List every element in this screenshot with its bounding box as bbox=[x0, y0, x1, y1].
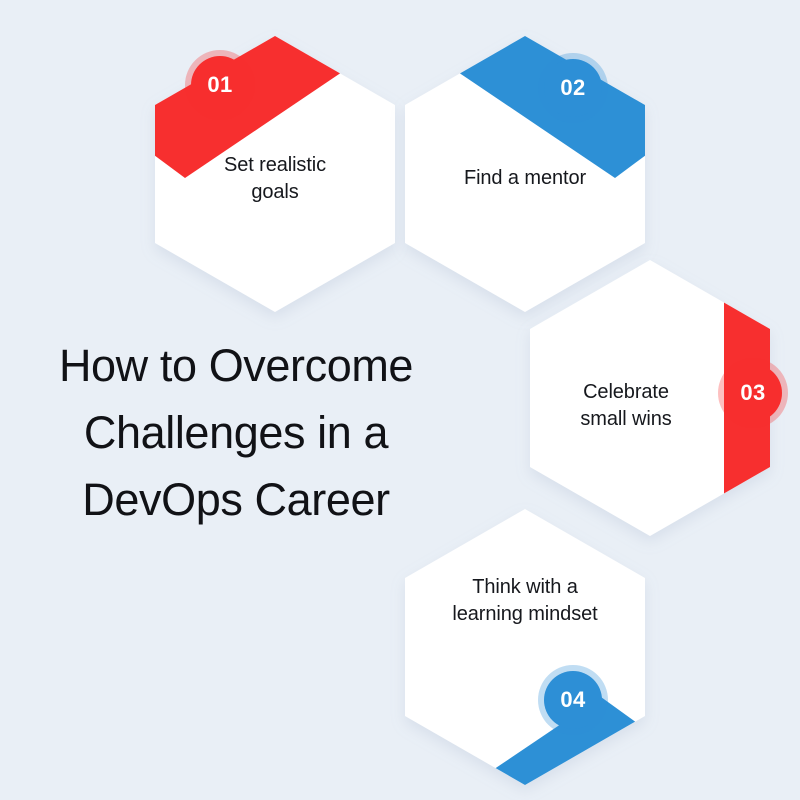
step-label-04: Think with a learning mindset bbox=[400, 574, 650, 628]
step-number-01: 01 bbox=[207, 72, 232, 98]
step-badge-03[interactable]: 03 bbox=[724, 364, 782, 422]
title-line-1: How to Overcome bbox=[0, 332, 472, 399]
step-label-04-line-2: learning mindset bbox=[452, 603, 597, 625]
step-label-03: Celebrate small wins bbox=[516, 379, 736, 433]
title-line-3: DevOps Career bbox=[0, 466, 472, 533]
step-label-01-line-1: Set realistic bbox=[224, 154, 326, 176]
step-card-04[interactable]: Think with a learning mindset bbox=[405, 509, 645, 785]
step-label-04-line-1: Think with a bbox=[472, 576, 578, 598]
step-label-02: Find a mentor bbox=[415, 165, 635, 192]
step-badge-02[interactable]: 02 bbox=[544, 59, 602, 117]
step-number-04: 04 bbox=[560, 687, 585, 713]
title-line-2: Challenges in a bbox=[0, 399, 472, 466]
step-label-03-line-1: Celebrate bbox=[583, 381, 669, 403]
hexagon-shape-04 bbox=[405, 509, 645, 785]
step-badge-04[interactable]: 04 bbox=[544, 671, 602, 729]
infographic-canvas: How to Overcome Challenges in a DevOps C… bbox=[0, 0, 800, 800]
step-number-03: 03 bbox=[740, 380, 765, 406]
step-label-03-line-2: small wins bbox=[580, 408, 671, 430]
step-label-02-line-1: Find a mentor bbox=[464, 167, 586, 189]
step-label-01: Set realistic goals bbox=[165, 152, 385, 206]
step-number-02: 02 bbox=[560, 75, 585, 101]
step-label-01-line-2: goals bbox=[251, 181, 298, 203]
page-title: How to Overcome Challenges in a DevOps C… bbox=[0, 332, 472, 533]
step-badge-01[interactable]: 01 bbox=[191, 56, 249, 114]
hexagon-body-04 bbox=[405, 509, 645, 785]
